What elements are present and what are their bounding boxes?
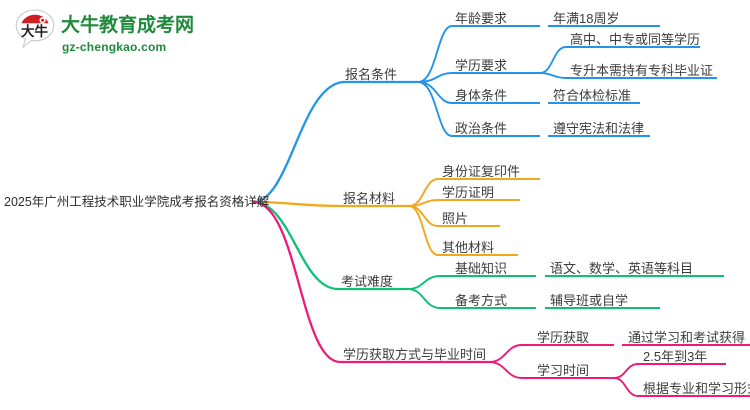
mindmap-root-label[interactable]: 2025年广州工程技术职业学院成考报名资格详解: [4, 196, 269, 209]
node-label-jichu-zhishi[interactable]: 基础知识: [455, 262, 507, 275]
node-label-xuexi-shijian[interactable]: 学习时间: [537, 364, 589, 377]
node-label-zhengzhi-tiaojian[interactable]: 政治条件: [455, 122, 507, 135]
leaf-label-nianman-18[interactable]: 年满18周岁: [553, 12, 619, 25]
node-label-xueli-yaoqiu[interactable]: 学历要求: [455, 59, 507, 72]
branch-label-baoming-tiaojian[interactable]: 报名条件: [345, 68, 397, 81]
leaf-label-zhuanshengben[interactable]: 专升本需持有专科毕业证: [570, 64, 713, 77]
logo-brand-text: 大牛教育成考网: [61, 15, 194, 36]
leaf-label-zunshou-xianfa[interactable]: 遵守宪法和法律: [553, 122, 644, 135]
mindmap-canvas: 大牛 大牛教育成考网 gz-chengkao.com: [0, 0, 750, 410]
svg-text:大牛: 大牛: [21, 23, 48, 39]
leaf-label-tongguo-xuexi-kaoshi[interactable]: 通过学习和考试获得: [628, 331, 745, 344]
node-label-xueli-huoqu-sub[interactable]: 学历获取: [537, 331, 589, 344]
node-label-zhaopian[interactable]: 照片: [442, 212, 468, 225]
leaf-label-gaozhong-zhongzhuan[interactable]: 高中、中专或同等学历: [570, 33, 700, 46]
leaf-label-2-5-nian-dao-3-nian[interactable]: 2.5年到3年: [643, 350, 707, 363]
leaf-label-fuhe-tijian[interactable]: 符合体检标准: [553, 89, 631, 102]
daniu-bubble-icon: 大牛: [14, 8, 56, 50]
leaf-label-fudaoban-huo-zixue[interactable]: 辅导班或自学: [550, 294, 628, 307]
node-label-beikao-fangshi[interactable]: 备考方式: [455, 294, 507, 307]
branch-label-baoming-cailiao[interactable]: 报名材料: [343, 192, 395, 205]
node-label-xueli-zhengming[interactable]: 学历证明: [442, 186, 494, 199]
leaf-label-genju-zhuanye[interactable]: 根据专业和学习形式: [643, 382, 750, 395]
node-label-shenti-tiaojian[interactable]: 身体条件: [455, 89, 507, 102]
node-label-shenfenzheng-fuyinjian[interactable]: 身份证复印件: [442, 165, 520, 178]
node-label-nianling-yaoqiu[interactable]: 年龄要求: [455, 12, 507, 25]
branch-label-xueli-huoqu[interactable]: 学历获取方式与毕业时间: [343, 348, 486, 361]
branch-label-kaoshi-nandu[interactable]: 考试难度: [341, 275, 393, 288]
branch-2-wires: [253, 179, 540, 255]
site-logo[interactable]: 大牛 大牛教育成考网 gz-chengkao.com: [14, 6, 204, 54]
node-label-qita-cailiao[interactable]: 其他材料: [442, 241, 494, 254]
logo-domain-text: gz-chengkao.com: [62, 40, 166, 54]
leaf-label-yuwen-shuxue-yingyu[interactable]: 语文、数学、英语等科目: [550, 262, 693, 275]
